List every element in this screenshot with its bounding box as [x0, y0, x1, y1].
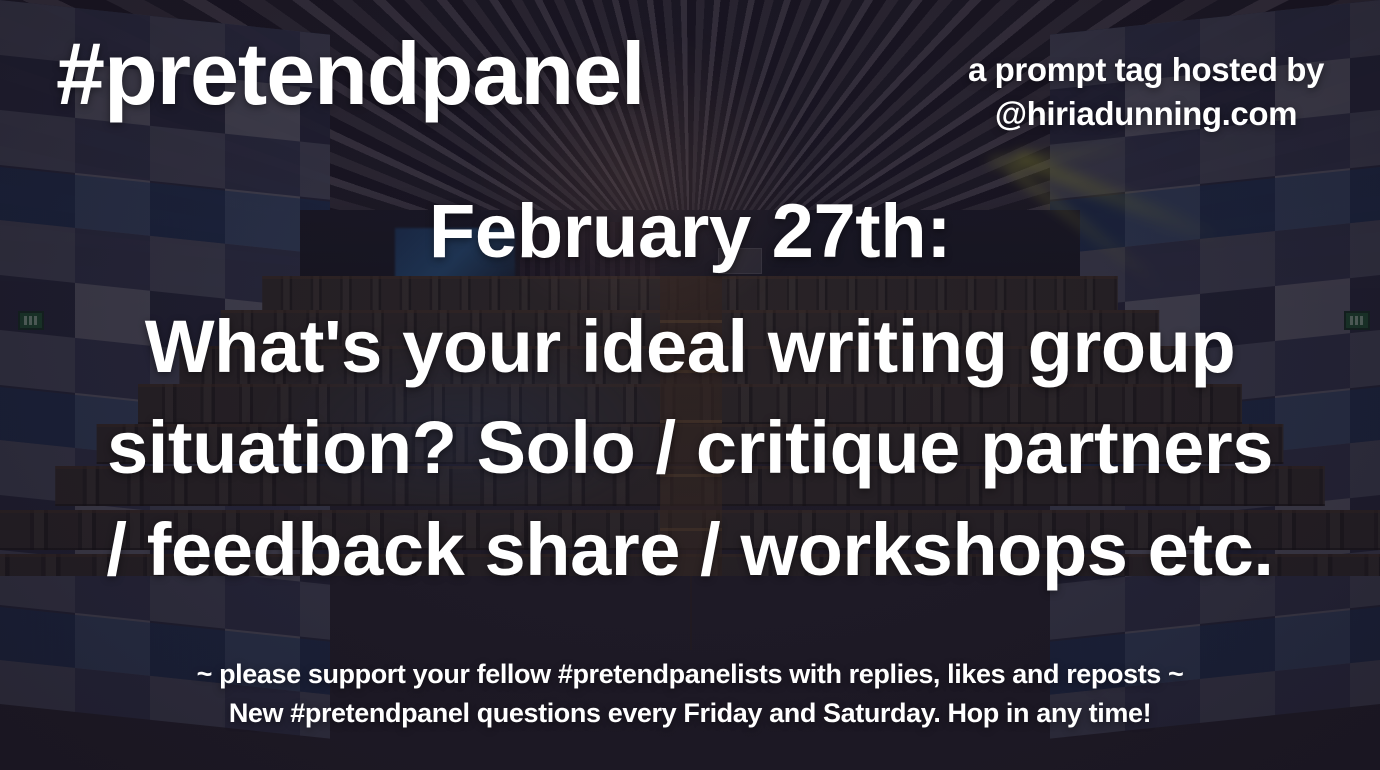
question-line: What's your ideal writing group: [0, 296, 1380, 397]
footer-line: New #pretendpanel questions every Friday…: [0, 694, 1380, 732]
question-line: / feedback share / workshops etc.: [0, 499, 1380, 600]
footer-note: ~ please support your fellow #pretendpan…: [0, 655, 1380, 732]
host-credit: a prompt tag hosted by @hiriadunning.com: [968, 48, 1324, 135]
host-credit-line-1: a prompt tag hosted by: [968, 51, 1324, 88]
host-credit-handle: @hiriadunning.com: [995, 95, 1297, 132]
footer-line: ~ please support your fellow #pretendpan…: [0, 655, 1380, 693]
date-heading: February 27th:: [0, 194, 1380, 270]
question-line: situation? Solo / critique partners: [0, 397, 1380, 498]
prompt-question: What's your ideal writing group situatio…: [0, 296, 1380, 600]
promo-poster: #pretendpanel a prompt tag hosted by @hi…: [0, 0, 1380, 770]
hashtag-title: #pretendpanel: [56, 30, 644, 118]
poster-content: #pretendpanel a prompt tag hosted by @hi…: [0, 0, 1380, 770]
